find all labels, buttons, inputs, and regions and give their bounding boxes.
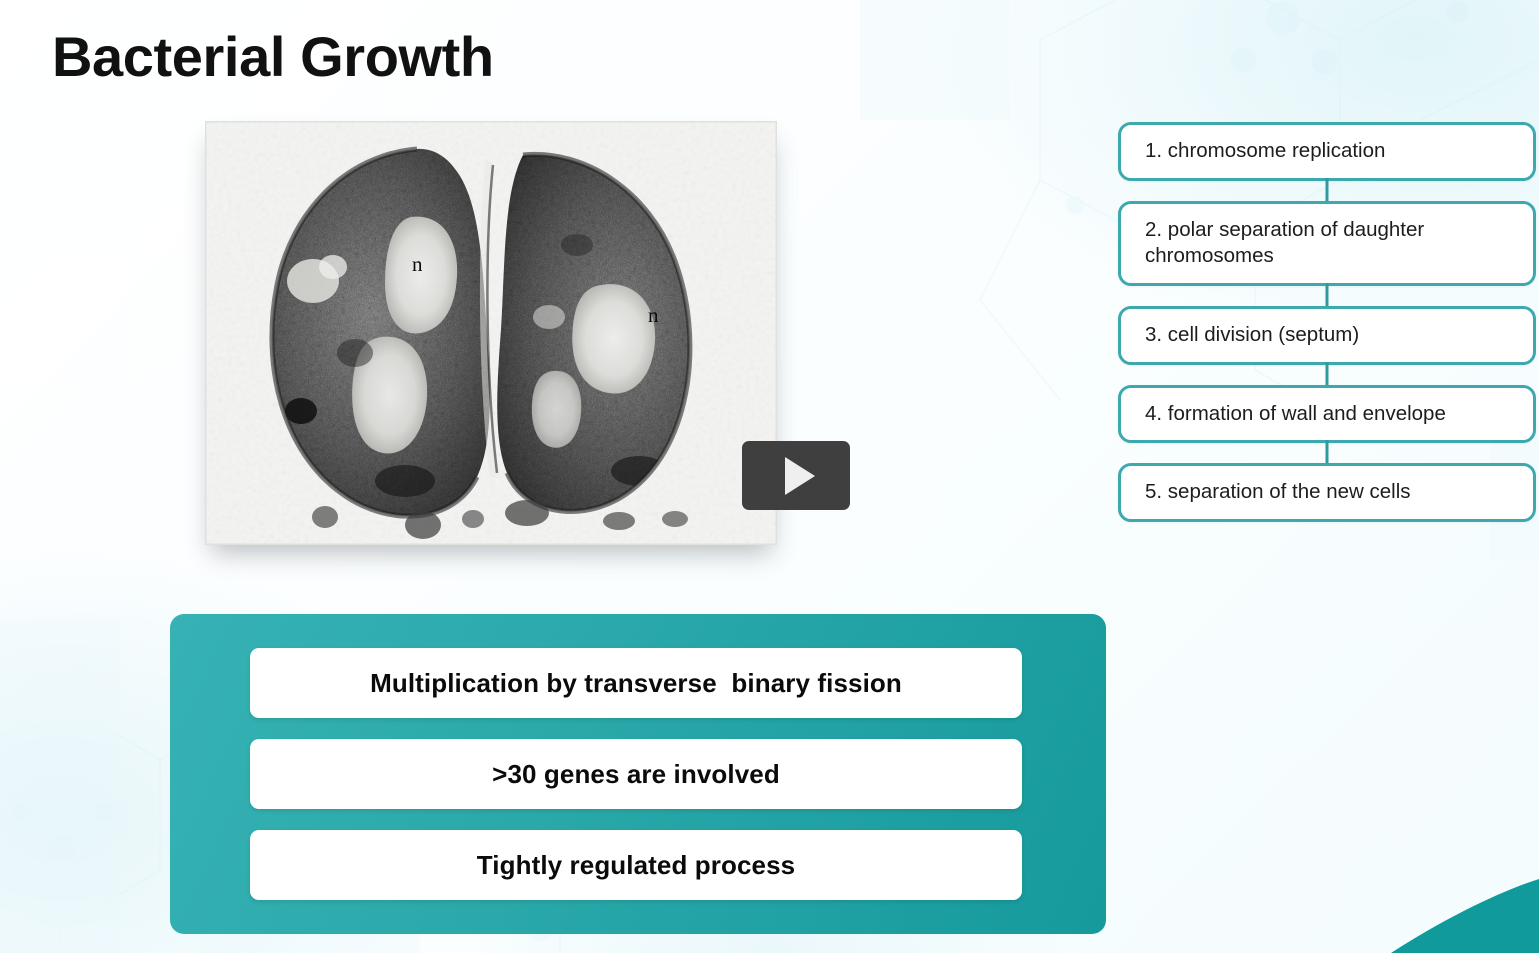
- statement-3-label: Tightly regulated process: [477, 850, 795, 881]
- summary-panel: Multiplication by transverse binary fiss…: [170, 614, 1106, 934]
- play-button[interactable]: [742, 441, 850, 510]
- flow-step-2-label: 2. polar separation of daughter chromoso…: [1145, 217, 1517, 270]
- page-title: Bacterial Growth: [52, 26, 494, 89]
- nucleoid-label-right: n: [648, 303, 659, 328]
- flow-step-2[interactable]: 2. polar separation of daughter chromoso…: [1118, 201, 1536, 286]
- statement-1-label: Multiplication by transverse binary fiss…: [370, 668, 902, 699]
- flow-step-4[interactable]: 4. formation of wall and envelope: [1118, 385, 1536, 444]
- flow-step-5[interactable]: 5. separation of the new cells: [1118, 463, 1536, 522]
- flow-step-1[interactable]: 1. chromosome replication: [1118, 122, 1536, 181]
- statement-card-1: Multiplication by transverse binary fiss…: [250, 648, 1022, 718]
- corner-accent-shape: [1369, 861, 1539, 953]
- micrograph-image: [205, 121, 777, 545]
- flow-step-5-label: 5. separation of the new cells: [1145, 479, 1411, 506]
- flow-step-3[interactable]: 3. cell division (septum): [1118, 306, 1536, 365]
- statement-card-3: Tightly regulated process: [250, 830, 1022, 900]
- statement-2-label: >30 genes are involved: [492, 759, 780, 790]
- nucleoid-label-left: n: [412, 252, 423, 277]
- slide-canvas: Bacterial Growth: [0, 0, 1539, 953]
- flow-step-1-label: 1. chromosome replication: [1145, 138, 1385, 165]
- process-flowchart: 1. chromosome replication 2. polar separ…: [1118, 122, 1536, 522]
- flow-step-4-label: 4. formation of wall and envelope: [1145, 401, 1446, 428]
- play-icon: [785, 457, 815, 495]
- flow-step-3-label: 3. cell division (septum): [1145, 322, 1359, 349]
- statement-card-2: >30 genes are involved: [250, 739, 1022, 809]
- micrograph-figure: [205, 121, 777, 545]
